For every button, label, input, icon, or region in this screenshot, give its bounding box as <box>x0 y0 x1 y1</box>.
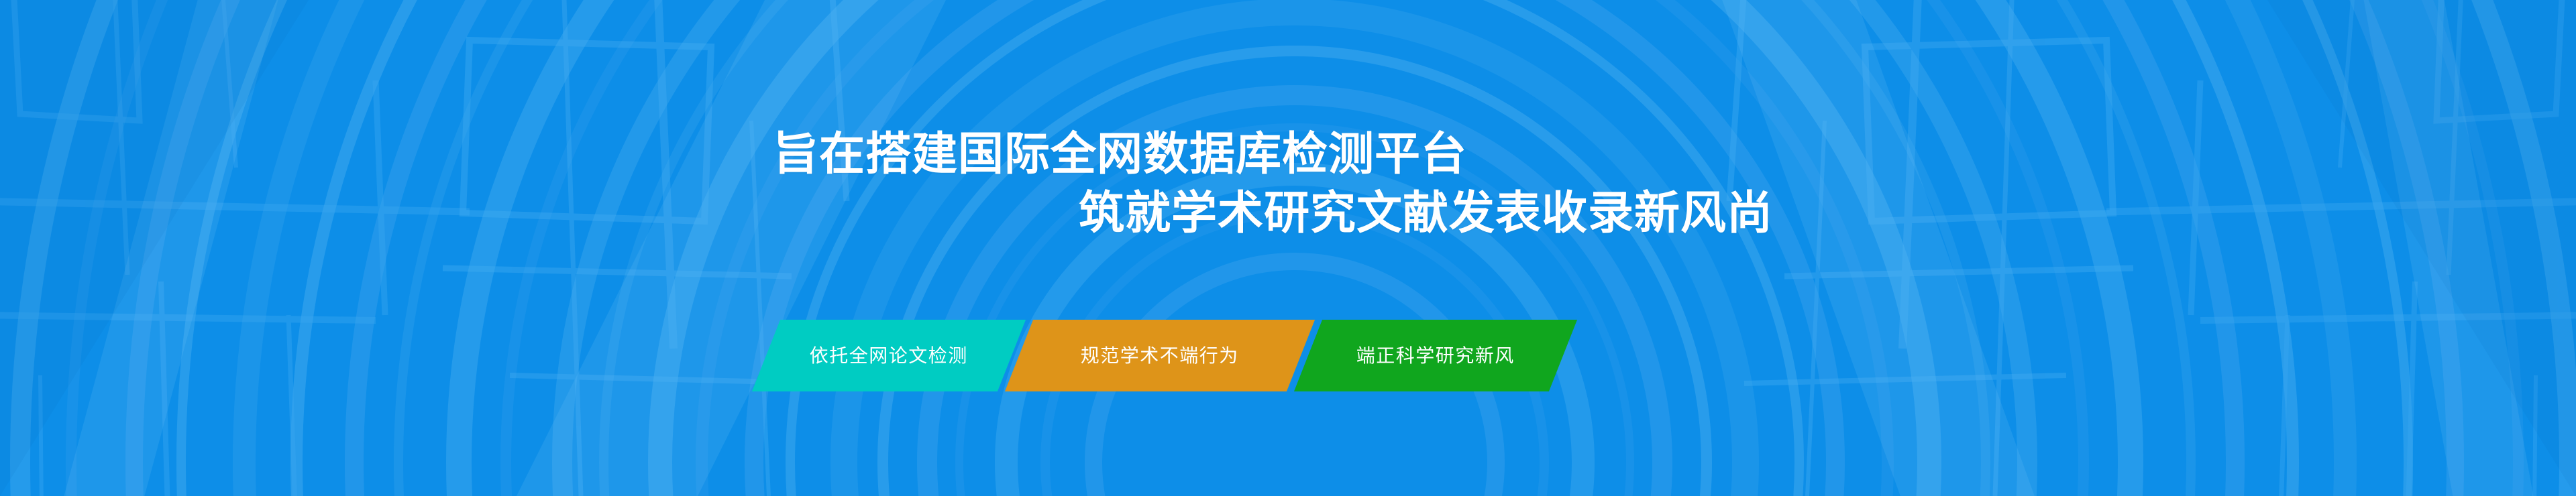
promo-banner: 旨在搭建国际全网数据库检测平台 筑就学术研究文献发表收录新风尚 依托全网论文检测… <box>0 0 2576 496</box>
background-artwork <box>0 0 2576 496</box>
feature-tag-misconduct[interactable]: 规范学术不端行为 <box>1005 320 1315 391</box>
feature-tag-label: 端正科学研究新风 <box>1356 347 1515 365</box>
feature-tag-detection[interactable]: 依托全网论文检测 <box>752 320 1026 391</box>
feature-tag-label: 规范学术不端行为 <box>1081 347 1239 365</box>
feature-tag-ethics[interactable]: 端正科学研究新风 <box>1294 320 1577 391</box>
feature-tag-label: 依托全网论文检测 <box>810 347 968 365</box>
feature-tag-strip: 依托全网论文检测 规范学术不端行为 端正科学研究新风 <box>766 320 1563 391</box>
